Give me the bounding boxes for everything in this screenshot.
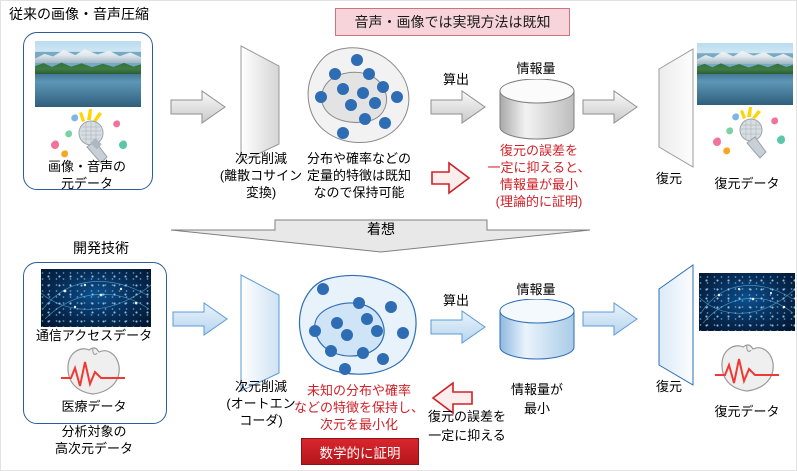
top-decoder-shape [653,47,699,169]
top-latent-label-line1: 分布や確率などの [289,151,429,166]
top-output-microphone-icon [701,105,795,163]
top-arrow-2-icon [429,89,487,125]
bottom-arrow-1-icon [171,301,229,337]
bottom-output-map [699,273,795,331]
bottom-source-caption-line1: 分析対象の [23,424,165,439]
bottom-min-note-line1: 情報量が [493,382,581,397]
bottom-output-caption: 復元データ [699,404,795,419]
top-information-cylinder [497,79,577,141]
top-encoder-shape [237,44,283,164]
header-banner: 音声・画像では実現方法は既知 [335,8,570,36]
top-source-caption-line1: 画像・音声の [23,159,151,174]
bottom-information-cylinder [497,299,577,361]
top-red-note-line2: 一定に抑えると、 [473,160,605,175]
top-red-arrow-icon [429,159,473,197]
top-source-caption-line2: 元データ [23,176,151,191]
bottom-encoder-shape [237,273,283,393]
heart-ecg-icon [59,344,131,400]
bottom-latent-cluster [293,273,423,383]
map-arcs [41,269,151,327]
top-output-photo [697,43,793,105]
bottom-source-medical-caption: 医療データ [23,399,165,414]
bottom-source-caption-line2: 高次元データ [23,441,165,456]
diagram-canvas: 従来の画像・音声圧縮 音声・画像では実現方法は既知 [0,0,797,471]
bottom-error-note-line2: 一定に抑える [401,428,533,443]
bottom-source-map-caption: 通信アクセスデータ [23,328,165,343]
bottom-cylinder-label: 情報量 [491,282,581,297]
bottom-row-title: 開発技術 [41,240,161,257]
bottom-arrow-2-icon [429,309,487,345]
top-red-note-line1: 復元の誤差を [479,143,599,158]
microphone-music-notes-icon [37,107,141,167]
bottom-decoder-label: 復元 [641,379,697,394]
top-red-note-line4: (理論的に証明) [473,194,605,209]
idea-banner-label: 着想 [321,221,441,238]
bottom-calc-label: 算出 [428,293,484,308]
bottom-error-note-line1: 復元の誤差を [401,409,533,424]
top-row-title: 従来の画像・音声圧縮 [9,6,149,23]
bottom-output-heart-ecg-icon [713,341,785,397]
top-latent-cluster [299,45,421,149]
top-latent-label-line3: なので保持可能 [289,185,429,200]
top-red-note-line3: 情報量が最小 [476,177,602,192]
top-arrow-3-icon [581,89,639,125]
top-latent-label-line2: 定量的特徴は既知 [289,168,429,183]
top-decoder-label: 復元 [641,171,697,186]
bottom-arrow-3-icon [581,301,639,337]
world-network-map-photo [41,269,151,327]
output-map-arcs [699,273,795,331]
top-calc-label: 算出 [428,72,484,87]
top-arrow-1-icon [169,89,227,125]
top-cylinder-label: 情報量 [491,61,581,76]
bottom-decoder-shape [653,263,699,389]
mountain-lake-photo [35,41,141,107]
top-output-caption: 復元データ [699,176,795,191]
bottom-latent-label-line1: 未知の分布や確率 [287,383,431,398]
